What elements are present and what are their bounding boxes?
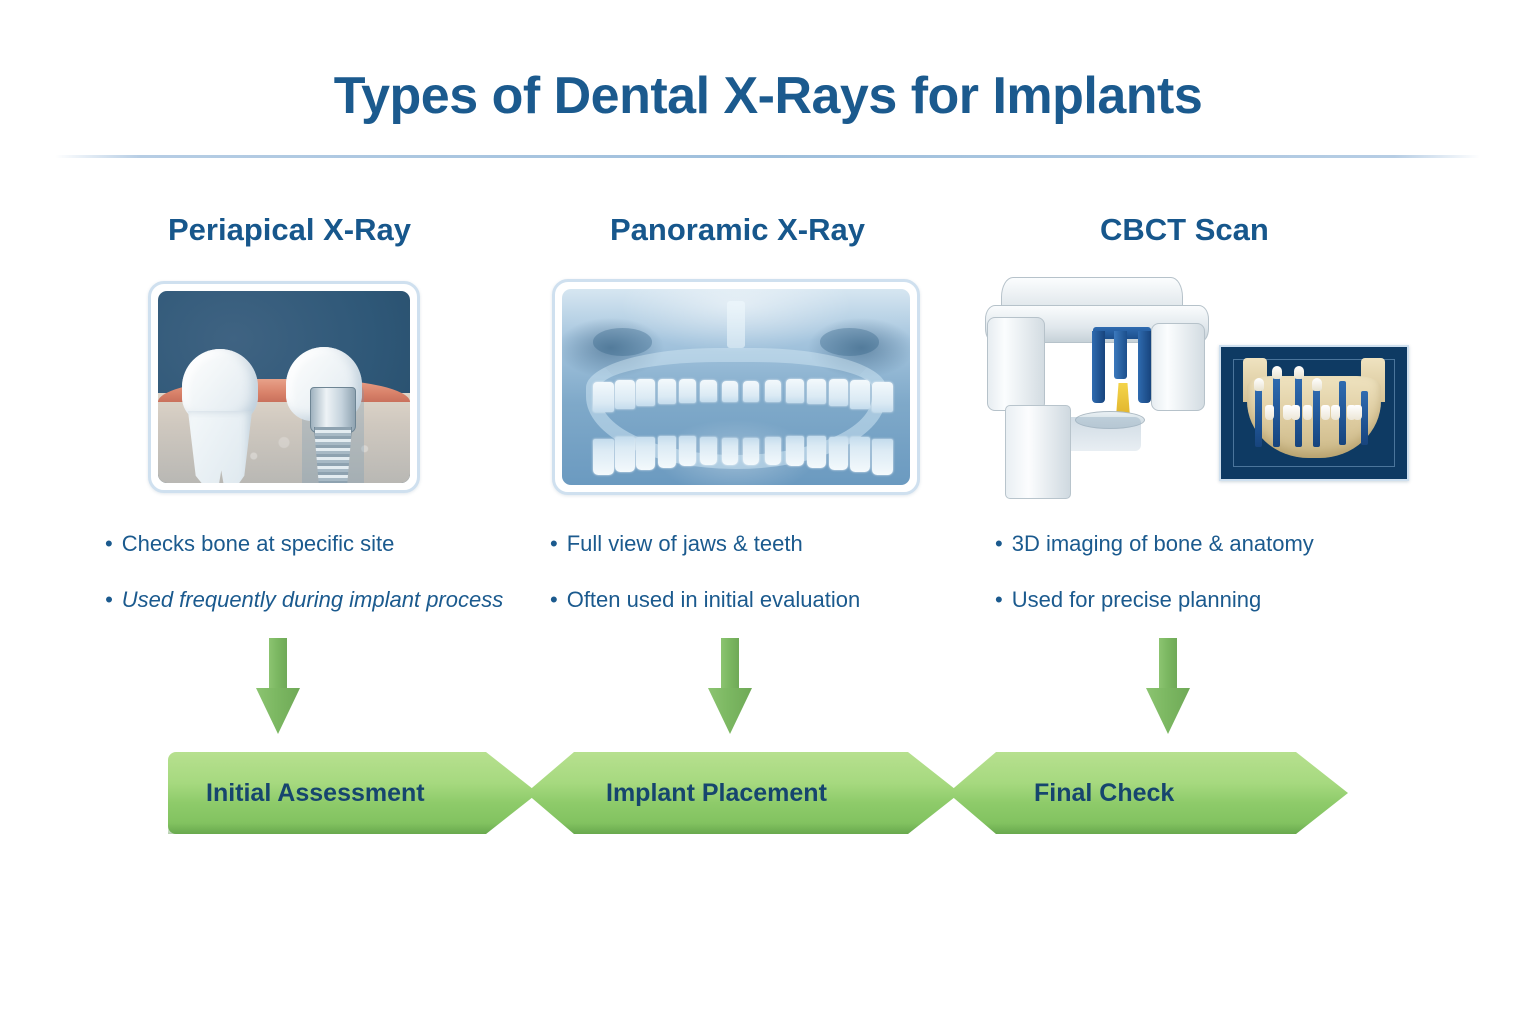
implant-post <box>1313 389 1320 447</box>
column-heading-panoramic: Panoramic X-Ray <box>610 212 865 248</box>
lower-tooth <box>872 439 893 475</box>
process-step-implant-placement[interactable]: Implant Placement <box>520 752 960 834</box>
scanner-left-pillar <box>987 317 1045 411</box>
bullet-text: Often used in initial evaluation <box>567 587 861 612</box>
arrow-shaft <box>1159 638 1177 694</box>
natural-tooth <box>1321 405 1330 420</box>
lower-tooth <box>615 437 635 471</box>
natural-tooth <box>1291 405 1300 420</box>
implant-post <box>1339 381 1346 445</box>
lower-tooth <box>593 439 614 475</box>
implant-abutment <box>310 387 356 433</box>
lower-tooth <box>850 437 870 471</box>
lower-tooth <box>722 438 738 465</box>
lower-tooth <box>636 437 655 470</box>
page-title: Types of Dental X-Rays for Implants <box>0 66 1536 126</box>
down-arrow-icon-2 <box>708 638 752 734</box>
lower-tooth <box>679 436 696 466</box>
scanner-blue-arm-center <box>1114 331 1127 379</box>
natural-tooth-root <box>188 411 252 483</box>
process-step-label: Initial Assessment <box>206 752 425 834</box>
bullet-dot: • <box>105 587 113 612</box>
bullet-dot: • <box>995 587 1003 612</box>
process-step-label: Final Check <box>1034 752 1174 834</box>
implant-post <box>1361 391 1368 445</box>
lower-tooth <box>765 437 782 465</box>
bullet-dot: • <box>105 531 113 556</box>
cbct-3d-render-panel <box>1219 345 1409 481</box>
arrow-shaft <box>269 638 287 694</box>
bullet-cbct-1: •3D imaging of bone & anatomy <box>995 531 1314 557</box>
column-heading-periapical: Periapical X-Ray <box>168 212 411 248</box>
implant-crown <box>1312 378 1322 391</box>
upper-dental-arch <box>562 360 910 402</box>
natural-tooth <box>1353 405 1362 420</box>
scanner-column <box>1005 405 1071 499</box>
bullet-text: Full view of jaws & teeth <box>567 531 803 556</box>
process-step-initial-assessment[interactable]: Initial Assessment <box>168 752 538 834</box>
cbct-scanner-image <box>975 265 1405 500</box>
lower-tooth <box>807 436 825 467</box>
process-step-final-check[interactable]: Final Check <box>942 752 1348 834</box>
bullet-text: Used frequently during implant process <box>122 587 504 612</box>
left-sinus <box>593 328 652 355</box>
bullet-dot: • <box>550 531 558 556</box>
implant-crown <box>1272 366 1282 379</box>
process-flow-bar: Initial Assessment Implant Placement Fin… <box>168 752 1348 834</box>
scanner-blue-arm-right <box>1138 331 1151 403</box>
arrow-head <box>708 688 752 734</box>
bullet-panoramic-1: •Full view of jaws & teeth <box>550 531 803 557</box>
bullet-text: Checks bone at specific site <box>122 531 395 556</box>
implant-crown <box>1294 366 1304 379</box>
lower-dental-arch <box>562 399 910 441</box>
natural-tooth <box>1331 405 1340 420</box>
scanner-right-pillar <box>1151 323 1205 411</box>
panoramic-xray-image <box>552 279 920 495</box>
lower-tooth <box>786 436 803 466</box>
column-heading-cbct: CBCT Scan <box>1100 212 1269 248</box>
bullet-dot: • <box>995 531 1003 556</box>
periapical-xray-image <box>148 281 420 493</box>
implant-post <box>1255 389 1262 447</box>
arrow-shaft <box>721 638 739 694</box>
down-arrow-icon-1 <box>256 638 300 734</box>
process-step-label: Implant Placement <box>606 752 827 834</box>
lower-tooth <box>829 437 848 470</box>
lower-tooth <box>743 438 759 465</box>
bullet-text: 3D imaging of bone & anatomy <box>1012 531 1314 556</box>
infographic-canvas: Types of Dental X-Rays for Implants Peri… <box>0 0 1536 1024</box>
lower-tooth <box>658 436 676 467</box>
implant-post <box>1273 377 1280 447</box>
scanner-blue-arm-left <box>1092 331 1105 403</box>
title-divider <box>55 155 1480 158</box>
implant-screw <box>314 427 352 483</box>
natural-tooth <box>1265 405 1274 420</box>
bullet-text: Used for precise planning <box>1012 587 1261 612</box>
nasal-septum <box>727 301 744 348</box>
bullet-dot: • <box>550 587 558 612</box>
natural-tooth <box>1303 405 1312 420</box>
implant-crown <box>1254 378 1264 391</box>
lower-tooth <box>700 437 717 465</box>
bullet-panoramic-2: •Often used in initial evaluation <box>550 587 860 613</box>
arrow-head <box>256 688 300 734</box>
down-arrow-icon-3 <box>1146 638 1190 734</box>
bullet-cbct-2: •Used for precise planning <box>995 587 1261 613</box>
arrow-head <box>1146 688 1190 734</box>
bullet-periapical-2: •Used frequently during implant process <box>105 587 503 613</box>
bullet-periapical-1: •Checks bone at specific site <box>105 531 394 557</box>
right-sinus <box>820 328 879 355</box>
